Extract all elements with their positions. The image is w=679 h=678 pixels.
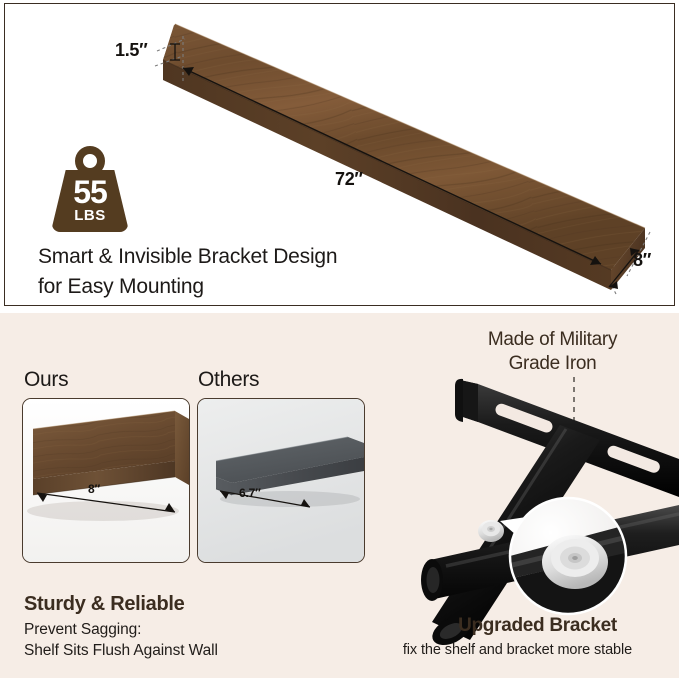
military-iron-line2: Grade Iron [430,352,675,376]
comparison-heading-others: Others [198,368,259,392]
military-iron-line1: Made of Military [430,328,675,352]
dimension-thickness-label: 1.5″ [115,40,147,61]
dimension-depth-label: 8″ [633,250,651,271]
sturdy-subtext-line2: Shelf Sits Flush Against Wall [24,640,218,661]
military-iron-label: Made of Military Grade Iron [430,328,675,376]
weight-badge-number: 55 [52,176,128,208]
upgraded-bracket-title: Upgraded Bracket [400,615,675,637]
comparison-heading-ours: Ours [24,368,68,392]
upgraded-bracket-subtext: fix the shelf and bracket more stable [360,642,675,658]
ours-dimension-label: 8″ [88,482,100,496]
sturdy-subtext-line1: Prevent Sagging: [24,619,218,640]
comparison-card-others [197,398,365,563]
hero-caption-line2: for Easy Mounting [38,272,468,302]
others-shelf-image [198,399,365,563]
sturdy-title: Sturdy & Reliable [24,593,185,616]
ours-shelf-image [23,399,190,563]
sturdy-subtext: Prevent Sagging: Shelf Sits Flush Agains… [24,619,218,661]
comparison-card-ours [22,398,190,563]
hero-panel: 1.5″ 72″ 55 LBS Smart & Invisible Bracke… [4,3,675,306]
dimension-length-label: 72″ [335,169,363,190]
hero-caption-line1: Smart & Invisible Bracket Design [38,242,468,272]
others-dimension-label: 6.7″ [239,486,261,500]
weight-badge-unit: LBS [52,208,128,223]
hero-caption: Smart & Invisible Bracket Design for Eas… [38,242,468,302]
weight-capacity-badge: 55 LBS [52,146,128,232]
